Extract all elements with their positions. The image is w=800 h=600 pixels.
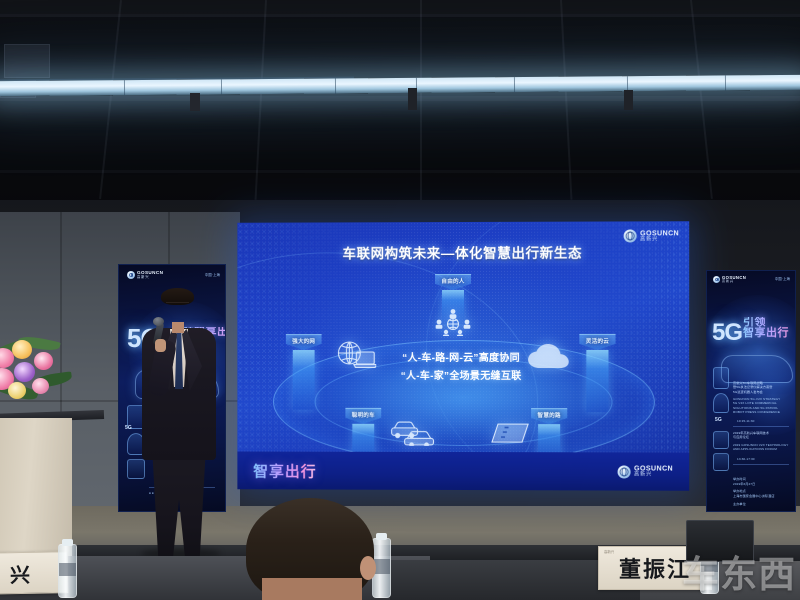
nameplate-tag-left: 高新兴 [604,549,614,554]
banner-right-logo-cn: 高新兴 [722,280,746,283]
banner-right-footer-4: 主办单位 [733,502,746,506]
audience-member-ear [360,556,376,580]
pillar-label-4: 灵活的云 [579,334,615,350]
conference-photo-scene: 车联网构筑未来—体化智慧出行新生态 GOSUNCN 高新兴 “人-车-路-网-云… [0,0,800,600]
gosuncn-globe-mark-icon [624,229,637,242]
watermark: 车东西 [682,544,796,598]
speaker-hand [155,339,166,352]
banner-right-block-1-time: 10:15-11:30 [737,419,754,423]
footer-logo-cn: 高新兴 [634,473,673,478]
podium: GOSUNCN 高新兴 [0,418,72,558]
people-network-icon [434,308,472,336]
banner-right-icon-badge [713,453,729,471]
banner-left-corner-note: 中国·上海 [205,273,220,278]
ceiling-duct [4,44,50,78]
banner-right-block-2-cn: 2019年高新兴车联网技术 与应用论坛 [733,431,791,440]
banner-right-car-graphic [721,355,793,383]
banner-right-block-2-en: 2019 GOSUNCN V2X TECHNOLOGY AND APPLICAT… [733,443,791,452]
banner-right-icon-device [713,367,729,389]
gosuncn-globe-mark-icon-bl [127,271,135,279]
gosuncn-globe-mark-icon-footer [618,465,631,478]
banner-right-icon-robot [713,393,729,413]
flower-arrangement [0,330,84,422]
banner-right-block-1-cn: 高新兴5G车联网战略 暨5G执法记录仪解决方案暨 5G巡逻机器人发布会 [733,381,791,394]
cloud-icon [528,344,574,370]
banner-right-icon-wifi [713,431,729,449]
road-icon [488,422,532,444]
banner-right-logo: GOSUNCN 高新兴 [713,276,746,283]
pillar-label-0: 自由的人 [435,274,471,290]
banner-right-footer-1: 2019年6月27日 [733,482,755,486]
ceiling [0,0,800,215]
led-presentation-screen: 车联网构筑未来—体化智慧出行新生态 GOSUNCN 高新兴 “人-车-路-网-云… [237,221,689,491]
banner-left-logo-cn: 高新兴 [137,276,163,279]
water-bottle-left [58,544,77,598]
banner-right-footer-2: 举办地点 [733,489,746,493]
banner-left-icon-3 [127,459,145,479]
slide-logo-cn: 高新兴 [640,237,679,242]
slide-footer-band: 智享出行 GOSUNCN 高新兴 [237,451,689,490]
speaker-glasses [166,302,189,309]
cars-icon [388,414,436,446]
banner-right-corner-note: 中国·上海 [775,277,790,282]
banner-right-slogan: 引领 智享出行 [743,317,789,340]
banner-right-block-1-en: GOSUNCN 5G-V2X STRATEGY 5G V2X LOTE COMM… [733,397,791,415]
pillar-flexible-cloud: 灵活的云 [584,334,610,412]
pillar-label-3: 智慧的路 [531,408,567,424]
pillar-strong-network: 强大的网 [291,334,317,410]
banner-right-footer-3: 上海市国家会展中心洲际酒店 [733,494,775,498]
nameplate-name-text: 董振江 [619,552,691,584]
microphone-head-icon [153,317,164,326]
banner-right-block-2-time: 13:30-17:30 [737,457,755,461]
nameplate-left-text: 兴 [10,558,33,587]
globe-laptop-icon [336,340,376,370]
slide-title: 车联网构筑未来—体化智慧出行新生态 [237,241,689,262]
pillar-label-2: 聪明的车 [345,408,381,424]
rollup-banner-right: GOSUNCN 高新兴 中国·上海 5G 引领 智享出行 5G 高新兴5G车联网… [706,270,796,512]
pillar-label-1: 强大的网 [286,334,322,350]
banner-right-footer-0: 举办时间 [733,477,746,481]
slide-brand-logo: GOSUNCN 高新兴 [624,229,679,242]
slide-footer-logo: GOSUNCN 高新兴 [618,465,673,478]
slide-footer-slogan: 智享出行 [253,460,316,481]
banner-right-5g-headline: 5G [712,319,742,347]
audience-member-neck [262,578,362,600]
banner-left-logo: GOSUNCN 高新兴 [127,271,163,279]
gosuncn-globe-mark-icon-br [713,276,720,283]
